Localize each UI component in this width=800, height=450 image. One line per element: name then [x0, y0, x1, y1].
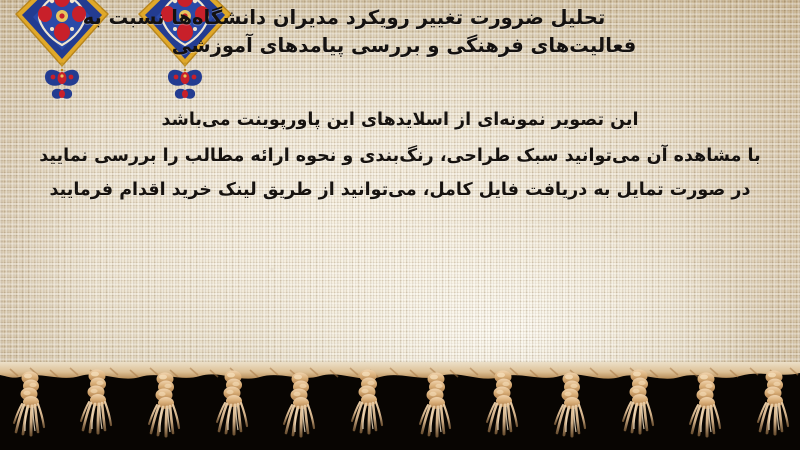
- body-line-1: این تصویر نمونه‌ای از اسلایدهای این پاور…: [10, 110, 790, 130]
- body-line-3: در صورت تمایل به دریافت فایل کامل، می‌تو…: [10, 180, 790, 200]
- body-line-2: با مشاهده آن می‌توانید سبک طراحی، رنگ‌بن…: [10, 146, 790, 166]
- slide-body: این تصویر نمونه‌ای از اسلایدهای این پاور…: [0, 110, 800, 200]
- title-line-1: تحلیل ضرورت تغییر رویکرد مدیران دانشگاه‌…: [8, 4, 800, 32]
- slide-canvas: تحلیل ضرورت تغییر رویکرد مدیران دانشگاه‌…: [0, 0, 800, 450]
- slide-text-layer: تحلیل ضرورت تغییر رویکرد مدیران دانشگاه‌…: [0, 0, 800, 375]
- fringe-svg: [0, 362, 800, 450]
- fringe-selvedge: [0, 362, 800, 379]
- carpet-fringe-band: [0, 362, 800, 450]
- fringe-tassels: [14, 370, 788, 437]
- title-line-2: فعالیت‌های فرهنگی و بررسی پیامدهای آموزش…: [8, 32, 800, 60]
- slide-title: تحلیل ضرورت تغییر رویکرد مدیران دانشگاه‌…: [0, 4, 800, 60]
